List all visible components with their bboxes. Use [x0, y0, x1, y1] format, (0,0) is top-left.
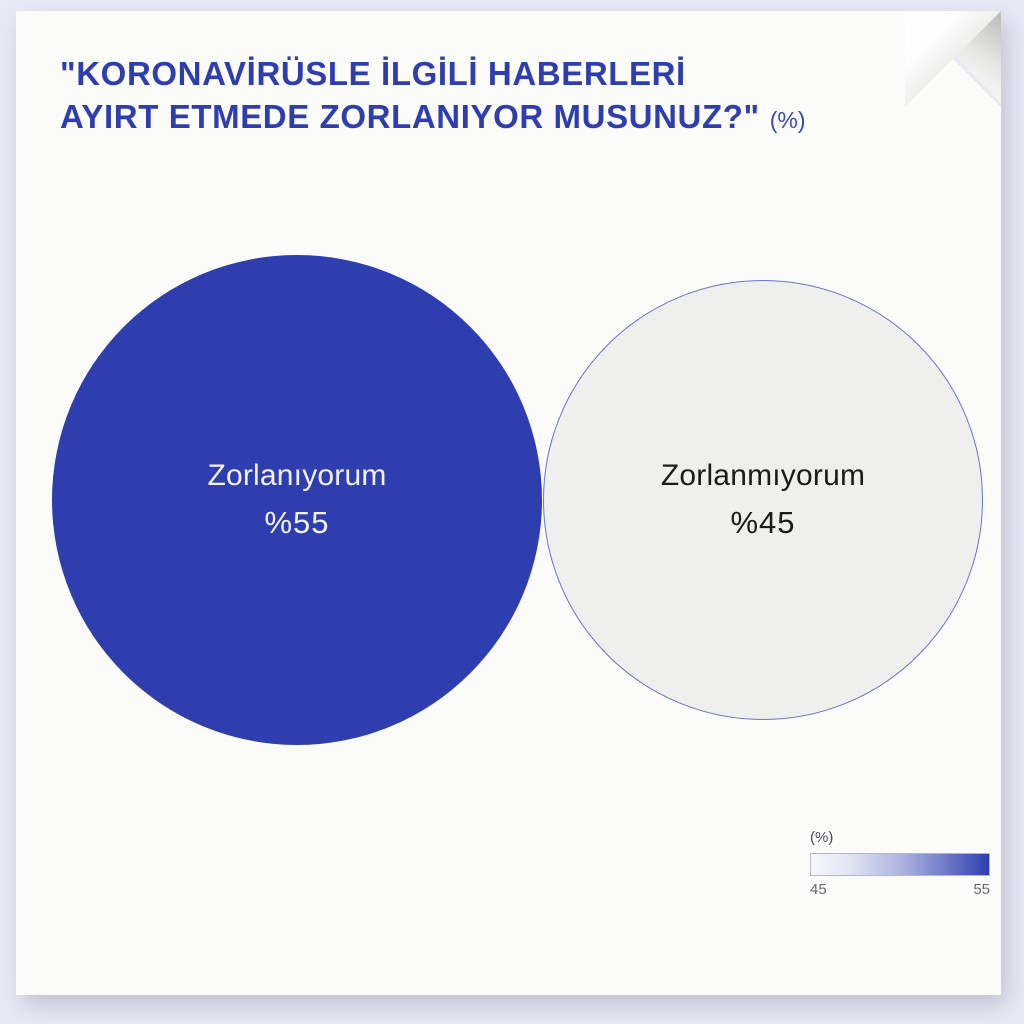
infographic-card: "KORONAVİRÜSLE İLGİLİ HABERLERİ AYIRT ET…: [16, 11, 1001, 995]
bubble-value: %45: [730, 505, 795, 541]
legend-gradient-bar: [810, 853, 990, 876]
bubble-label: Zorlanıyorum: [207, 459, 386, 493]
bubble-zorlanmiyorum[interactable]: Zorlanmıyorum %45: [543, 280, 983, 720]
legend-title: (%): [810, 829, 990, 846]
infographic-root: "KORONAVİRÜSLE İLGİLİ HABERLERİ AYIRT ET…: [0, 0, 1024, 1024]
footer: VERi KAYNAĞI: [16, 875, 1001, 995]
bubble-label: Zorlanmıyorum: [661, 459, 865, 493]
bubble-zorlaniyorum[interactable]: Zorlanıyorum %55: [52, 255, 542, 745]
bubble-value: %55: [264, 505, 329, 541]
